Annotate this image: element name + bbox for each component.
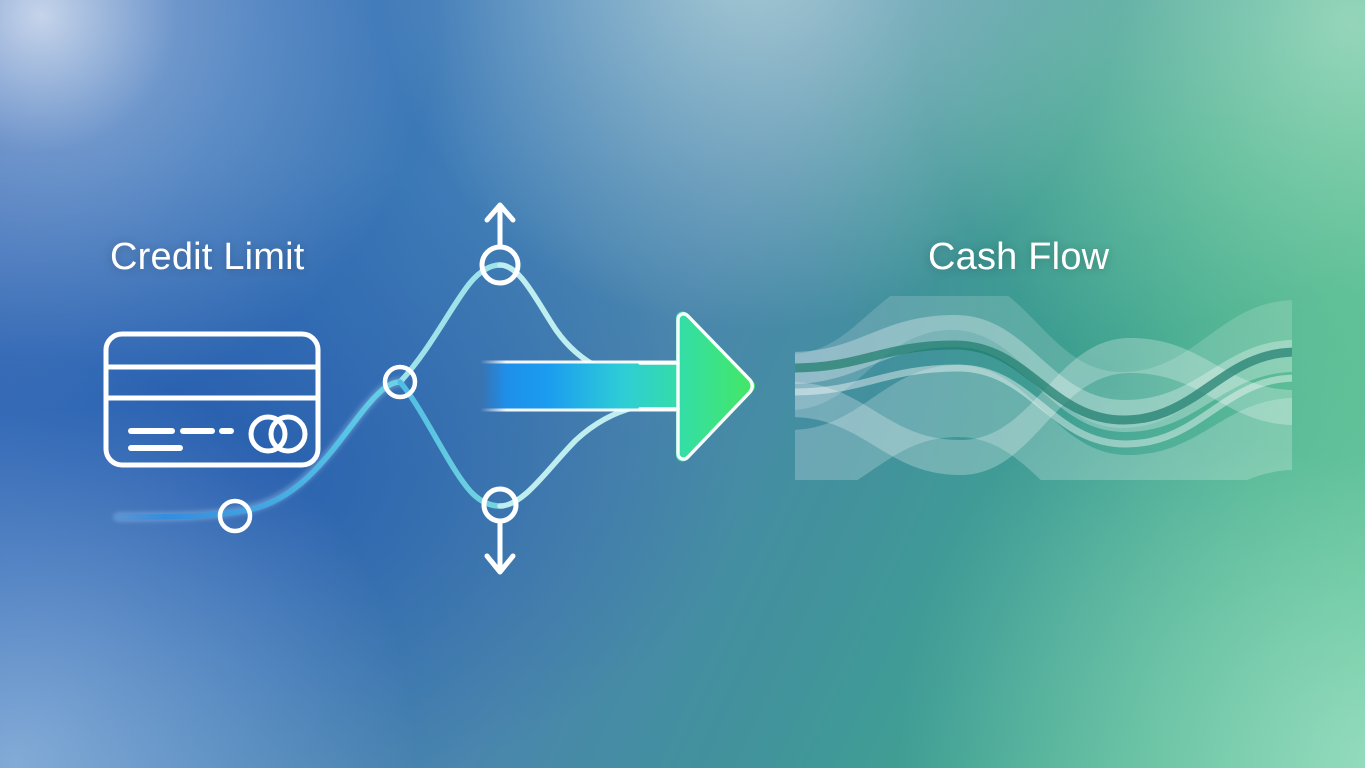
flow-arrow-shaft — [480, 363, 685, 409]
illustration-canvas: Credit Limit Cash Flow — [0, 0, 1365, 768]
card-network-logo-icon — [251, 417, 305, 451]
flow-curve-recover — [500, 403, 665, 506]
right-label-cash-flow: Cash Flow — [928, 236, 1109, 279]
left-label-credit-limit: Credit Limit — [110, 236, 305, 279]
artwork-svg — [0, 0, 1365, 768]
cash-flow-wave-icon — [790, 274, 1296, 527]
credit-card-icon — [106, 334, 318, 465]
flow-arrow-icon — [480, 311, 755, 461]
flow-arrow-head — [676, 311, 755, 461]
arrow-down-icon — [487, 521, 513, 572]
arrow-up-icon — [487, 205, 513, 247]
